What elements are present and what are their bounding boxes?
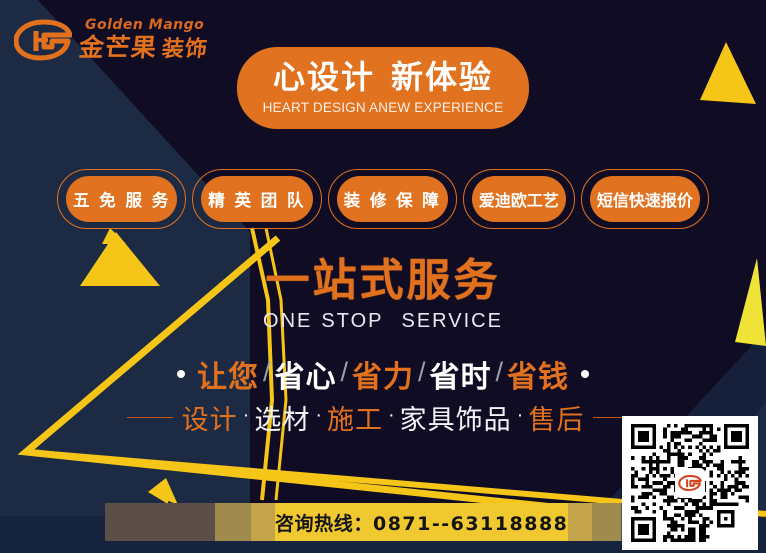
service-separator: · xyxy=(243,404,250,427)
badge-fill: 短信快速报价 xyxy=(590,176,700,222)
service-item-0: 设计 xyxy=(182,398,238,437)
divider-rule-left xyxy=(127,417,173,419)
benefit-item-4: 省钱 xyxy=(507,352,569,396)
benefit-item-1: 省心 xyxy=(274,352,336,396)
hotline-bar-segment-brown-left xyxy=(105,503,215,541)
bullet-dot-left-icon xyxy=(177,370,185,378)
poster-canvas: Golden Mango 金芒果装饰 心设计新体验 HEART DESIGN A… xyxy=(0,0,766,553)
logo-english-name: Golden Mango xyxy=(79,18,208,32)
brand-logo: Golden Mango 金芒果装饰 xyxy=(14,18,208,61)
logo-chinese-suffix: 装饰 xyxy=(161,37,210,62)
service-item-4: 售后 xyxy=(528,398,584,437)
hero-headline-left: 心设计 xyxy=(273,58,375,96)
badge-five-free-service[interactable]: 五 免 服 务 xyxy=(57,169,186,229)
hotline-bar: 咨询热线：0871--63118888 xyxy=(105,503,657,541)
service-item-1: 选材 xyxy=(254,398,310,437)
benefit-item-3: 省时 xyxy=(430,352,492,396)
onestop-en-word-2: STOP xyxy=(321,310,383,332)
hotline-bar-segment-gold-right xyxy=(568,503,592,541)
feature-badge-row: 五 免 服 务 精 英 团 队 装 修 保 障 爱迪欧工艺 短信快速报价 xyxy=(57,168,709,230)
benefit-separator: / xyxy=(263,357,271,388)
badge-label: 短信快速报价 xyxy=(597,187,693,211)
benefit-separator: / xyxy=(340,357,348,388)
badge-sms-quick-quote[interactable]: 短信快速报价 xyxy=(581,169,709,229)
golden-mango-monogram-icon xyxy=(14,19,72,61)
badge-label: 爱迪欧工艺 xyxy=(479,187,559,211)
hotline-bar-segment-gold-left xyxy=(215,503,251,541)
service-separator: · xyxy=(517,404,524,427)
onestop-title-cn: 一站式服务 xyxy=(0,258,766,304)
service-separator: · xyxy=(315,404,322,427)
badge-label: 装 修 保 障 xyxy=(344,187,441,211)
benefit-separator: / xyxy=(418,357,426,388)
badge-fill: 五 免 服 务 xyxy=(66,176,177,222)
onestop-title-en: ONESTOPSERVICE xyxy=(0,310,766,333)
badge-label: 精 英 团 队 xyxy=(208,187,305,211)
badge-fill: 精 英 团 队 xyxy=(201,176,312,222)
qr-code-image xyxy=(631,424,749,542)
hotline-bar-segment-gold-right-2 xyxy=(592,503,621,541)
hotline-bar-segment-yellow[interactable]: 咨询热线：0871--63118888 xyxy=(275,503,568,541)
onestop-en-word-3: SERVICE xyxy=(401,310,502,332)
service-item-2: 施工 xyxy=(327,398,383,437)
logo-chinese-name: 金芒果装饰 xyxy=(78,35,210,61)
benefit-item-2: 省力 xyxy=(352,352,414,396)
logo-chinese-main: 金芒果 xyxy=(78,33,159,62)
onestop-en-word-1: ONE xyxy=(263,310,312,332)
benefit-item-0: 让您 xyxy=(197,352,259,396)
hotline-bar-segment-gold-left-2 xyxy=(251,503,275,541)
badge-adio-craft[interactable]: 爱迪欧工艺 xyxy=(463,169,575,229)
center-headline-block: 一站式服务 ONESTOPSERVICE xyxy=(0,258,766,333)
hero-subheadline: HEART DESIGN ANEW EXPERIENCE xyxy=(263,100,504,115)
service-item-3: 家具饰品 xyxy=(400,398,512,437)
hero-banner: 心设计新体验 HEART DESIGN ANEW EXPERIENCE xyxy=(237,47,529,129)
badge-fill: 装 修 保 障 xyxy=(337,176,448,222)
badge-fill: 爱迪欧工艺 xyxy=(472,176,566,222)
qr-code-panel[interactable] xyxy=(622,416,758,550)
hotline-number: 0871--63118888 xyxy=(373,513,568,535)
badge-renovation-guarantee[interactable]: 装 修 保 障 xyxy=(328,169,457,229)
badge-label: 五 免 服 务 xyxy=(73,187,170,211)
benefit-separator: / xyxy=(496,357,504,388)
qr-center-logo xyxy=(675,468,705,498)
benefits-line: 让您 / 省心 / 省力 / 省时 / 省钱 xyxy=(0,352,766,396)
golden-mango-monogram-icon xyxy=(678,474,702,492)
hero-headline: 心设计新体验 xyxy=(273,61,493,93)
hotline-label: 咨询热线： xyxy=(275,513,373,535)
hotline-text: 咨询热线：0871--63118888 xyxy=(275,509,568,536)
service-separator: · xyxy=(388,404,395,427)
bullet-dot-right-icon xyxy=(581,370,589,378)
badge-elite-team[interactable]: 精 英 团 队 xyxy=(192,169,321,229)
hero-headline-right: 新体验 xyxy=(391,58,493,96)
